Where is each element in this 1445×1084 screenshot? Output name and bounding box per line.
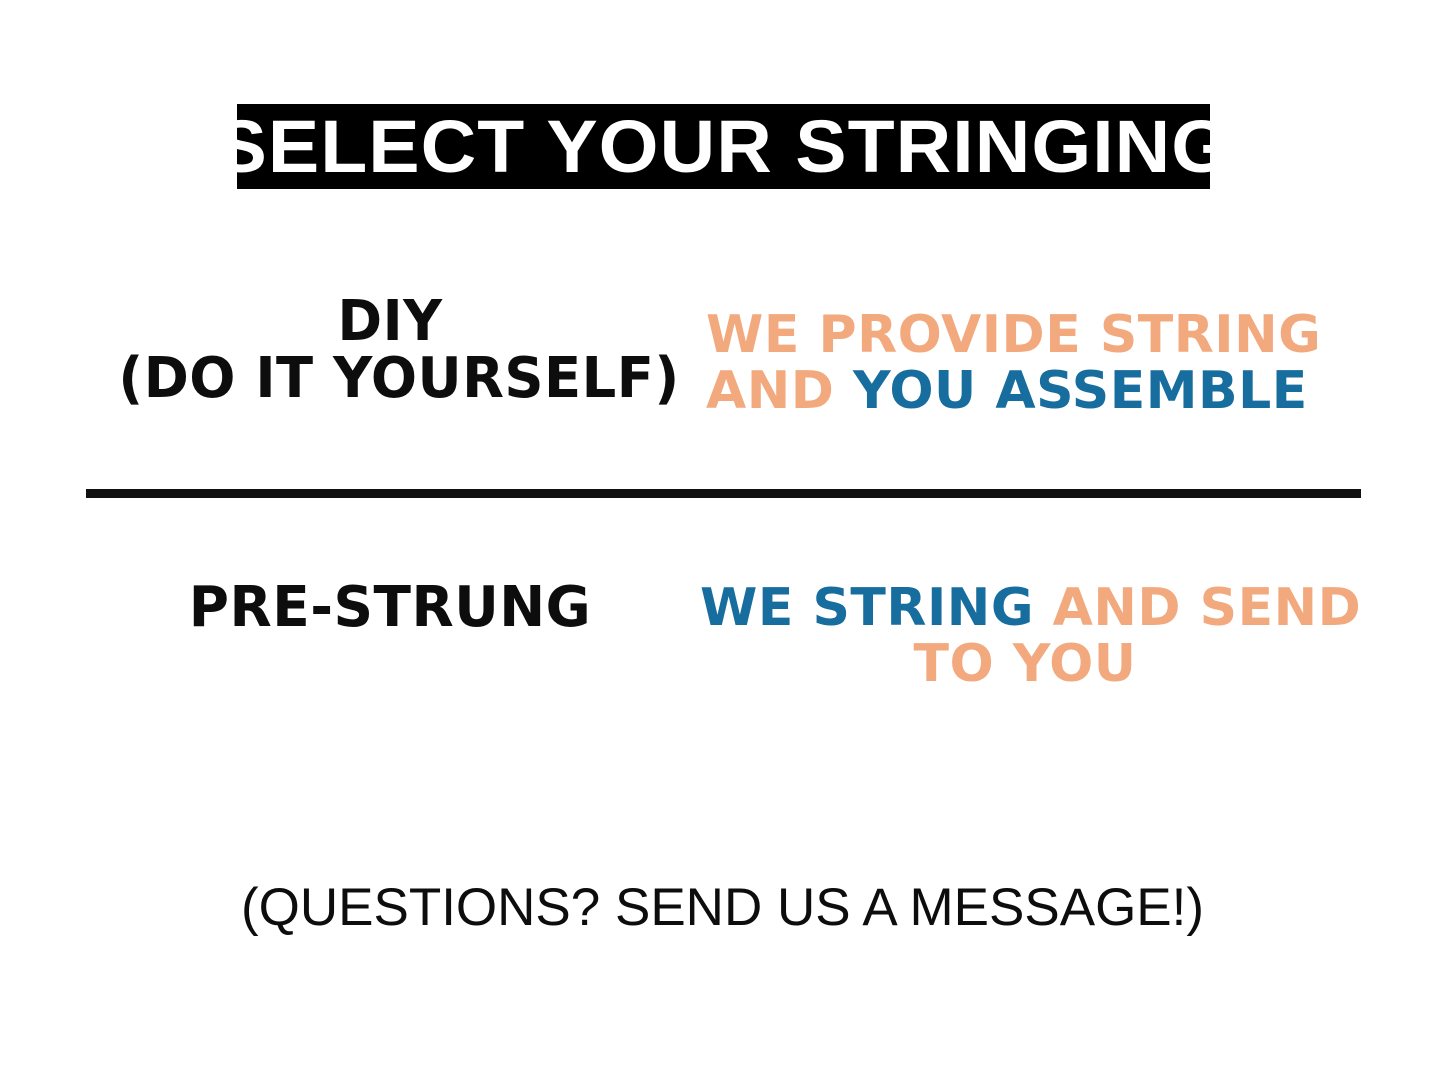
footer-note: (QUESTIONS? SEND US A MESSAGE!) bbox=[241, 878, 1204, 938]
option-pre-strung-desc-line1: WE STRING AND SEND bbox=[700, 580, 1350, 636]
option-diy-desc-line2: AND YOU ASSEMBLE bbox=[706, 363, 1332, 419]
option-pre-strung-label-line1: PRE-STRUNG bbox=[116, 578, 665, 638]
option-diy-desc-part-3: YOU ASSEMBLE bbox=[853, 361, 1308, 421]
option-pre-strung-desc-part-3: TO YOU bbox=[700, 636, 1350, 692]
option-diy-desc-part-1: WE PROVIDE STRING bbox=[706, 305, 1321, 365]
option-diy-label-line1: DIY bbox=[121, 296, 659, 348]
option-pre-strung-description: WE STRING AND SEND TO YOU bbox=[700, 580, 1350, 692]
option-diy-description: WE PROVIDE STRING AND YOU ASSEMBLE bbox=[706, 307, 1332, 419]
option-pre-strung-desc-part-2: AND SEND bbox=[1053, 578, 1362, 638]
option-pre-strung-label[interactable]: PRE-STRUNG bbox=[110, 578, 670, 638]
option-diy-label[interactable]: DIY (DO IT YOURSELF) bbox=[110, 296, 670, 408]
page-title: SELECT YOUR STRINGING bbox=[215, 110, 1232, 184]
section-divider bbox=[86, 489, 1361, 498]
option-pre-strung-desc-part-1: WE STRING bbox=[700, 578, 1034, 638]
option-diy-desc-part-2: AND bbox=[706, 361, 834, 421]
option-diy-label-line2: (DO IT YOURSELF) bbox=[118, 350, 661, 408]
slide-canvas: SELECT YOUR STRINGING DIY (DO IT YOURSEL… bbox=[0, 0, 1445, 1084]
footer: (QUESTIONS? SEND US A MESSAGE!) bbox=[0, 878, 1445, 938]
title-banner: SELECT YOUR STRINGING bbox=[237, 104, 1210, 189]
